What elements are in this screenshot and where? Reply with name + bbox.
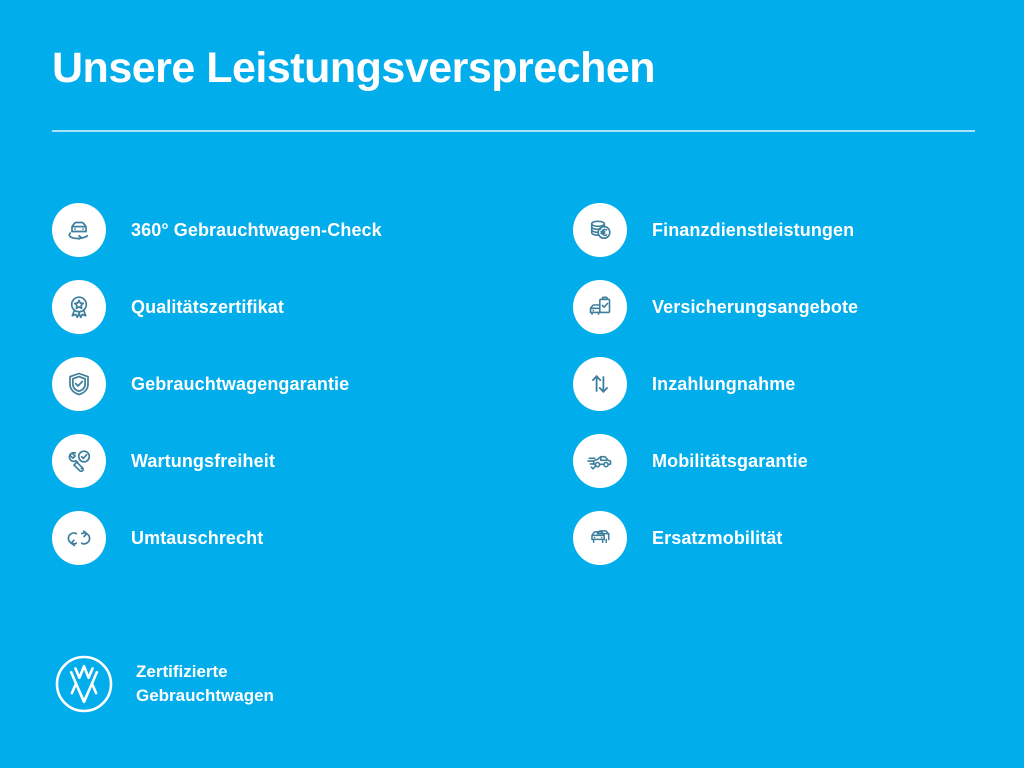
wrench-check-icon: [52, 434, 106, 488]
brand-line-2: Gebrauchtwagen: [136, 684, 274, 708]
feature-label: Mobilitätsgarantie: [652, 451, 808, 472]
feature-label: Versicherungsangebote: [652, 297, 858, 318]
page-title: Unsere Leistungsversprechen: [52, 46, 976, 91]
feature-item-warranty[interactable]: Gebrauchtwagengarantie: [52, 357, 522, 411]
shield-check-icon: [52, 357, 106, 411]
feature-item-360-check[interactable]: 360° Gebrauchtwagen-Check: [52, 203, 522, 257]
feature-item-replacement-mobility[interactable]: Ersatzmobilität: [573, 511, 1013, 565]
feature-label: Gebrauchtwagengarantie: [131, 374, 349, 395]
feature-item-maintenance-free[interactable]: Wartungsfreiheit: [52, 434, 522, 488]
feature-label: Qualitätszertifikat: [131, 297, 284, 318]
award-ribbon-icon: [52, 280, 106, 334]
feature-label: 360° Gebrauchtwagen-Check: [131, 220, 382, 241]
feature-item-mobility-guarantee[interactable]: Mobilitätsgarantie: [573, 434, 1013, 488]
brand-text: Zertifizierte Gebrauchtwagen: [136, 660, 274, 708]
promo-slide: Unsere Leistungsversprechen 3: [0, 0, 1024, 768]
two-cars-icon: [573, 511, 627, 565]
feature-item-trade-in[interactable]: Inzahlungnahme: [573, 357, 1013, 411]
car-motion-icon: [573, 434, 627, 488]
feature-item-insurance-offers[interactable]: Versicherungsangebote: [573, 280, 1013, 334]
exchange-arrows-icon: [52, 511, 106, 565]
car-clipboard-icon: [573, 280, 627, 334]
feature-item-quality-certificate[interactable]: Qualitätszertifikat: [52, 280, 522, 334]
car-360-check-icon: [52, 203, 106, 257]
arrows-up-down-icon: [573, 357, 627, 411]
feature-label: Inzahlungnahme: [652, 374, 795, 395]
features-right-column: Finanzdienstleistungen Versicheru: [573, 203, 1013, 588]
brand-line-1: Zertifizierte: [136, 660, 274, 684]
feature-label: Finanzdienstleistungen: [652, 220, 854, 241]
feature-label: Umtauschrecht: [131, 528, 263, 549]
feature-label: Wartungsfreiheit: [131, 451, 275, 472]
brand-lockup: Zertifizierte Gebrauchtwagen: [52, 652, 274, 716]
feature-item-financial-services[interactable]: Finanzdienstleistungen: [573, 203, 1013, 257]
vw-logo-icon: [52, 652, 116, 716]
coins-euro-icon: [573, 203, 627, 257]
feature-item-exchange-right[interactable]: Umtauschrecht: [52, 511, 522, 565]
header: Unsere Leistungsversprechen: [52, 46, 976, 91]
features-left-column: 360° Gebrauchtwagen-Check Qualitätszerti…: [52, 203, 522, 588]
title-divider: [52, 130, 975, 132]
feature-label: Ersatzmobilität: [652, 528, 783, 549]
